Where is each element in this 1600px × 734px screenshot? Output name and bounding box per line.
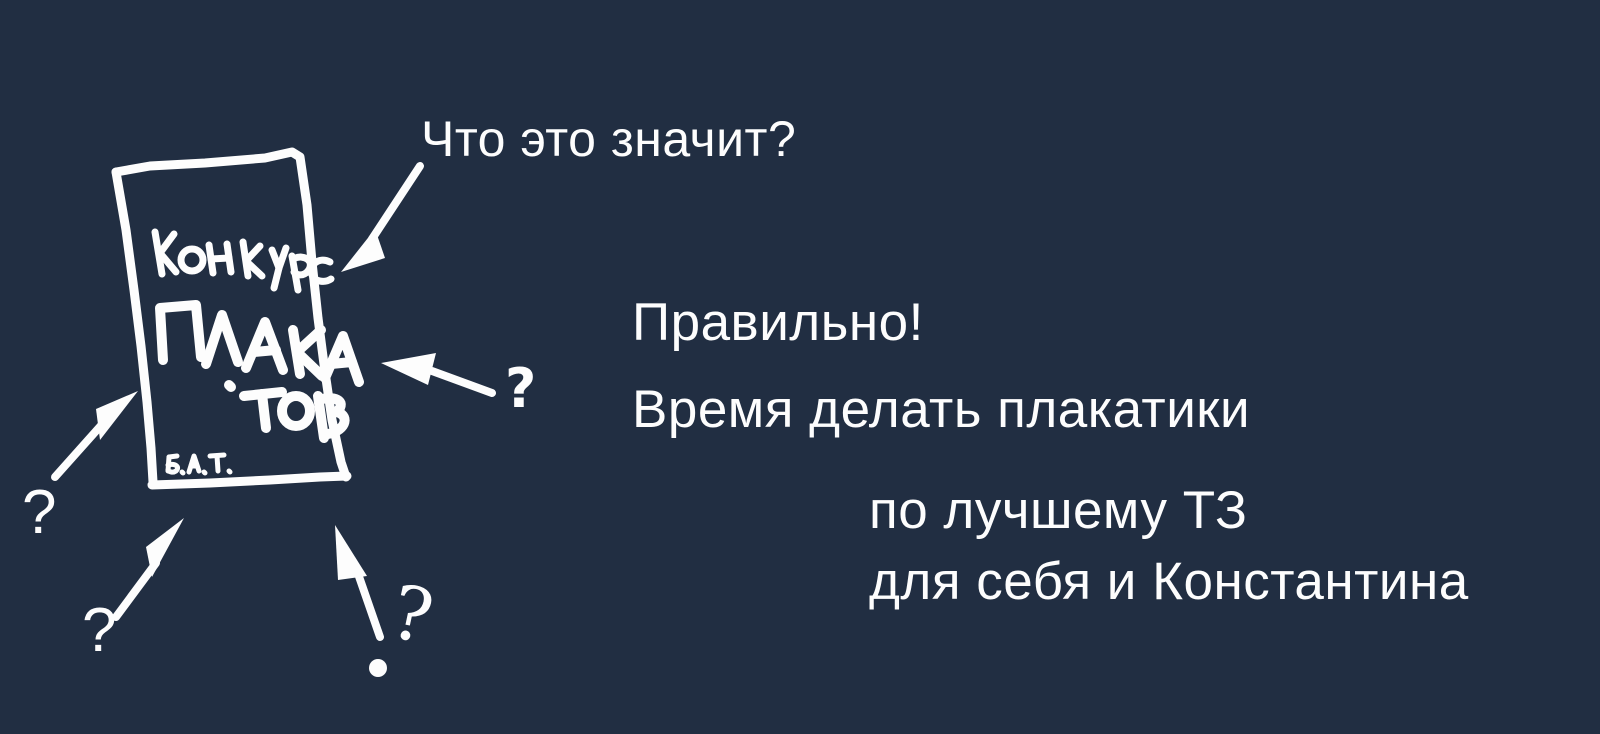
slide-canvas: Что это значит? Правильно! Время делать …: [0, 0, 1600, 734]
arrow-right: [381, 353, 492, 393]
poster-sketch: [0, 0, 1600, 734]
answer-line-2: Время делать плакатики: [632, 383, 1250, 436]
poster-title-line-2-strokes: [160, 305, 359, 382]
question-mark-bottom-left: ?: [82, 600, 116, 662]
question-headline: Что это значит?: [421, 114, 796, 164]
arrow-left: [55, 391, 138, 477]
question-mark-bold-right: ?: [505, 362, 535, 416]
arrow-bottom-left: [116, 518, 184, 617]
poster-title-line-1-strokes: [155, 232, 331, 290]
answer-line-4: для себя и Константина: [869, 555, 1469, 608]
poster-outline: [116, 152, 347, 485]
poster-signature-strokes: [168, 455, 230, 473]
answer-line-1: Правильно!: [632, 296, 924, 349]
question-mark-left: ?: [22, 482, 56, 544]
arrow-headline: [341, 166, 420, 272]
answer-line-3: по лучшему ТЗ: [869, 484, 1247, 537]
ink-dot: [369, 659, 387, 677]
arrow-bottom-center: [335, 525, 380, 637]
